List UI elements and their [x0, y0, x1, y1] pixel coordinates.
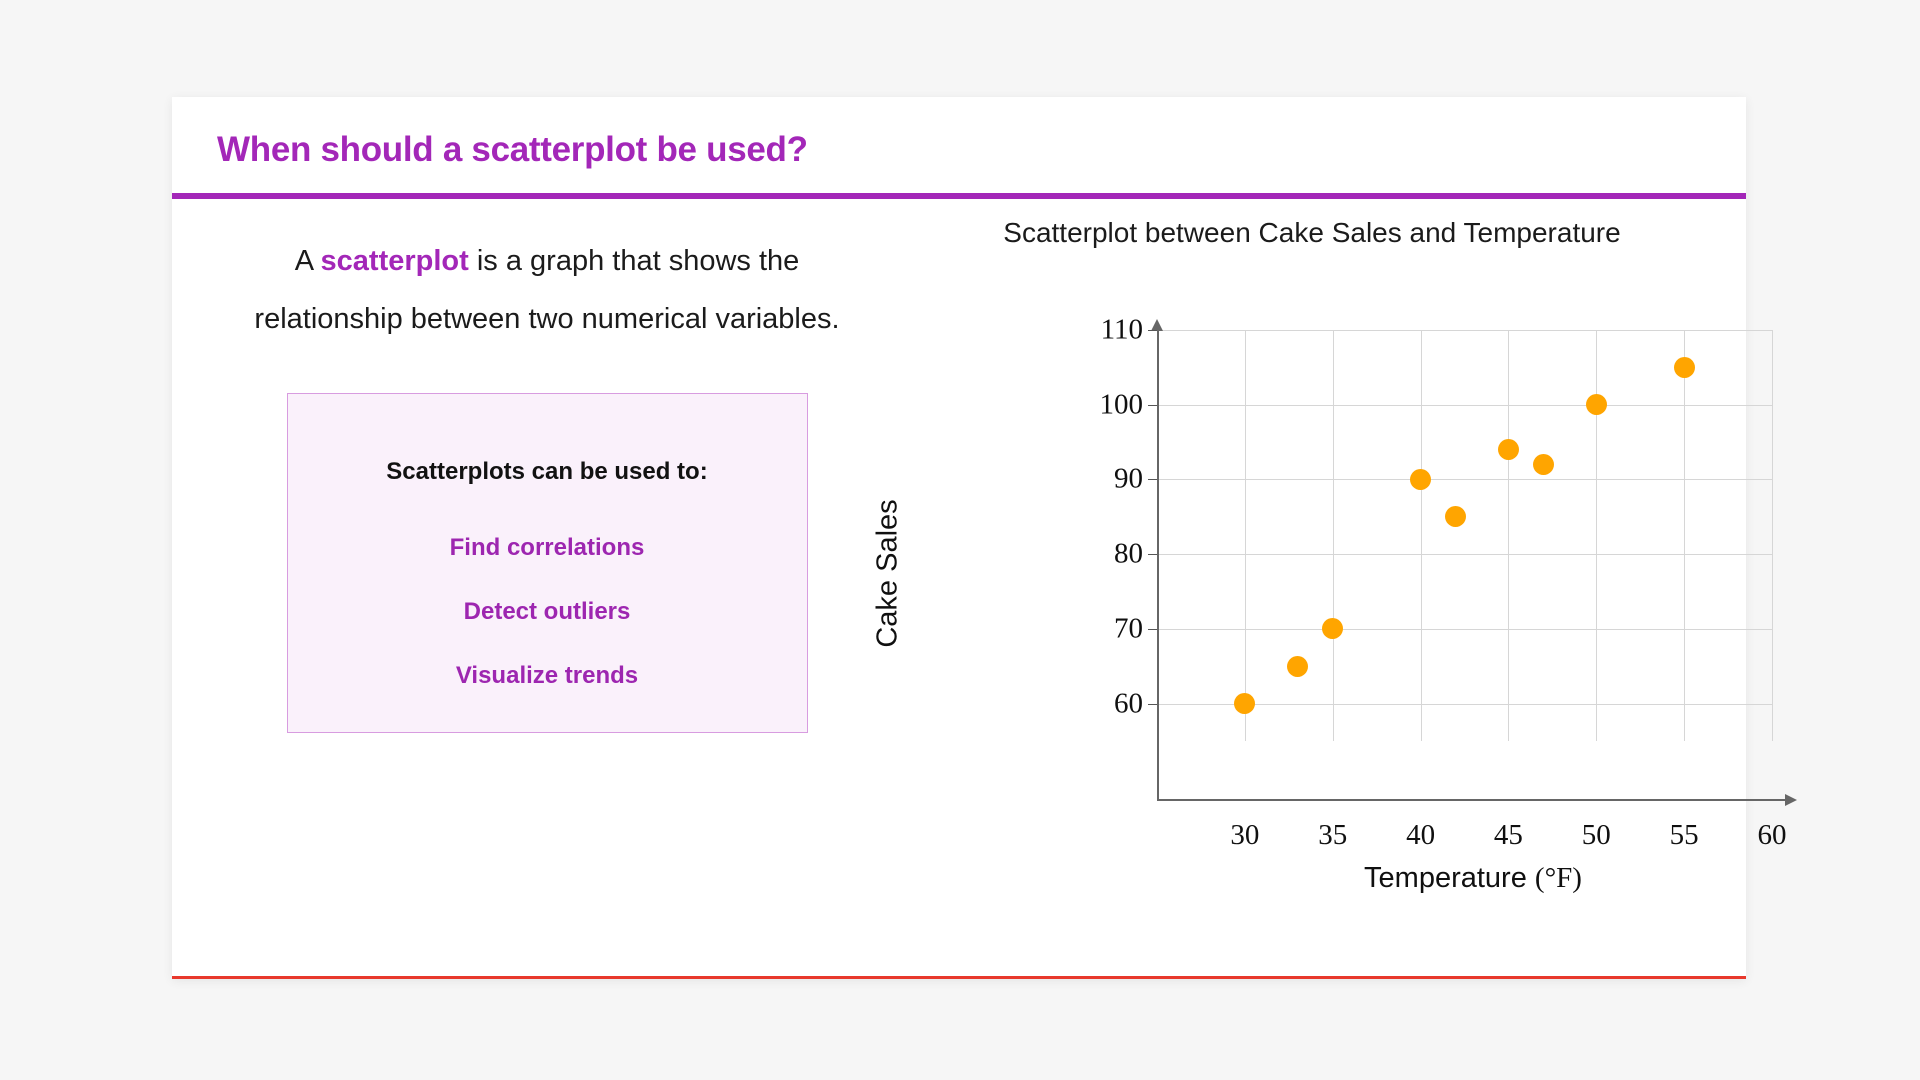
data-point: [1410, 469, 1431, 490]
y-axis-spine: [1157, 330, 1159, 800]
data-point: [1498, 439, 1519, 460]
title-divider: [172, 193, 1746, 199]
data-point: [1287, 656, 1308, 677]
x-axis-label: Temperature (°F): [1157, 862, 1789, 895]
left-column: A scatterplot is a graph that shows the …: [202, 232, 892, 733]
gridline-vertical: [1508, 330, 1509, 741]
y-tick-mark: [1148, 704, 1157, 705]
y-tick-mark: [1148, 629, 1157, 630]
chart-title: Scatterplot between Cake Sales and Tempe…: [892, 217, 1732, 249]
card-bottom-rule: [172, 976, 1746, 979]
y-tick-label: 90: [1083, 463, 1143, 496]
gridline-vertical: [1684, 330, 1685, 741]
scatter-chart: Scatterplot between Cake Sales and Tempe…: [892, 217, 1732, 947]
gridline-vertical: [1333, 330, 1334, 741]
definition-before: A: [295, 245, 321, 277]
plot-area: Cake Sales Temperature (°F) 303540455055…: [892, 307, 1732, 867]
gridline-vertical: [1596, 330, 1597, 741]
gridline-vertical: [1421, 330, 1422, 741]
y-tick-label: 60: [1083, 687, 1143, 720]
y-tick-label: 100: [1083, 388, 1143, 421]
x-tick-label: 30: [1210, 819, 1280, 852]
uses-box: Scatterplots can be used to: Find correl…: [287, 393, 808, 733]
gridline-horizontal: [1157, 629, 1772, 630]
x-tick-label: 50: [1561, 819, 1631, 852]
gridline-horizontal: [1157, 405, 1772, 406]
y-tick-mark: [1148, 405, 1157, 406]
data-point: [1533, 454, 1554, 475]
x-axis-arrow-icon: [1785, 794, 1797, 806]
y-tick-label: 80: [1083, 538, 1143, 571]
data-point: [1586, 394, 1607, 415]
use-item-visualize-trends: Visualize trends: [288, 662, 807, 690]
x-tick-label: 45: [1473, 819, 1543, 852]
x-axis-spine: [1157, 799, 1789, 801]
x-tick-label: 35: [1298, 819, 1368, 852]
slide-card: When should a scatterplot be used? A sca…: [172, 97, 1746, 979]
gridline-horizontal: [1157, 479, 1772, 480]
y-tick-label: 70: [1083, 612, 1143, 645]
gridline-vertical: [1245, 330, 1246, 741]
definition-paragraph: A scatterplot is a graph that shows the …: [202, 232, 892, 348]
use-item-find-correlations: Find correlations: [288, 534, 807, 562]
definition-highlight: scatterplot: [321, 245, 469, 277]
x-axis-label-unit: (°F): [1535, 862, 1582, 894]
y-tick-mark: [1148, 330, 1157, 331]
gridline-horizontal: [1157, 554, 1772, 555]
gridline-vertical: [1772, 330, 1773, 741]
plot-grid: [1157, 330, 1772, 741]
uses-heading: Scatterplots can be used to:: [288, 458, 807, 486]
use-item-detect-outliers: Detect outliers: [288, 598, 807, 626]
page-title: When should a scatterplot be used?: [217, 130, 808, 170]
y-axis-label: Cake Sales: [872, 499, 905, 647]
x-tick-label: 40: [1386, 819, 1456, 852]
x-tick-label: 55: [1649, 819, 1719, 852]
y-tick-label: 110: [1083, 314, 1143, 347]
x-axis-label-text: Temperature: [1364, 862, 1527, 894]
x-tick-label: 60: [1737, 819, 1807, 852]
gridline-horizontal: [1157, 330, 1772, 331]
y-tick-mark: [1148, 554, 1157, 555]
data-point: [1674, 357, 1695, 378]
y-tick-mark: [1148, 479, 1157, 480]
